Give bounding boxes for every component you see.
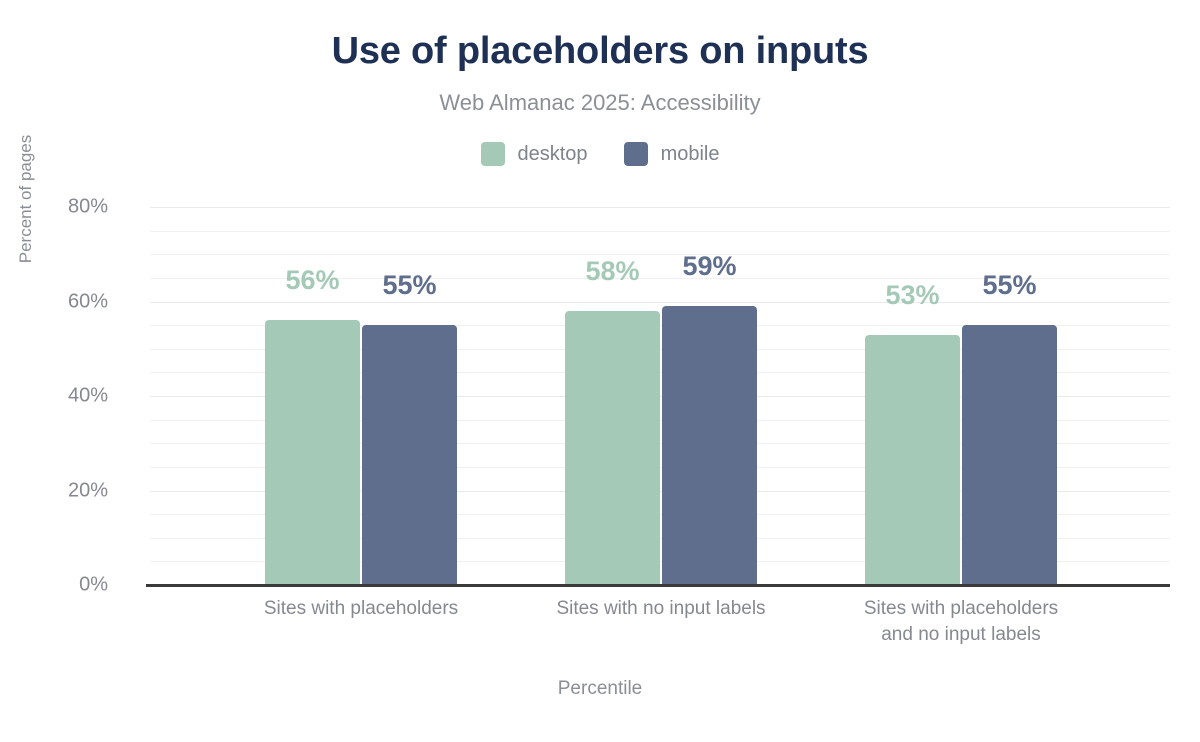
bar-desktop-1[interactable] bbox=[265, 320, 360, 585]
bar-desktop-2[interactable] bbox=[565, 311, 660, 585]
chart-title: Use of placeholders on inputs bbox=[0, 32, 1200, 72]
x-axis-title: Percentile bbox=[0, 678, 1200, 700]
bar-value-mobile-2: 59% bbox=[682, 251, 736, 282]
legend-swatch-desktop bbox=[481, 142, 505, 166]
bar-desktop-3[interactable] bbox=[865, 335, 960, 585]
x-axis-tick-label: Sites with placeholders bbox=[264, 596, 458, 622]
legend-item-mobile[interactable]: mobile bbox=[624, 142, 720, 166]
x-axis-tick-label: Sites with placeholders and no input lab… bbox=[864, 596, 1058, 647]
gridline bbox=[150, 207, 1170, 208]
bar-value-mobile-3: 55% bbox=[982, 270, 1036, 301]
bar-mobile-1[interactable] bbox=[362, 325, 457, 585]
y-axis-tick-label: 60% bbox=[0, 290, 108, 313]
chart-legend: desktop mobile bbox=[0, 142, 1200, 166]
x-axis-tick-label: Sites with no input labels bbox=[556, 596, 765, 622]
legend-label-mobile: mobile bbox=[661, 143, 720, 166]
bar-value-desktop-1: 56% bbox=[285, 265, 339, 296]
bar-value-desktop-3: 53% bbox=[885, 280, 939, 311]
gridline bbox=[150, 302, 1170, 303]
x-axis-baseline bbox=[146, 584, 1170, 587]
legend-swatch-mobile bbox=[624, 142, 648, 166]
bar-value-mobile-1: 55% bbox=[382, 270, 436, 301]
plot-area: 0%20%40%60%80% 56%55%58%59%53%55% bbox=[150, 207, 1170, 585]
chart-subtitle: Web Almanac 2025: Accessibility bbox=[0, 90, 1200, 116]
legend-label-desktop: desktop bbox=[518, 143, 588, 166]
gridline bbox=[150, 254, 1170, 255]
y-axis-tick-label: 40% bbox=[0, 385, 108, 408]
bar-mobile-2[interactable] bbox=[662, 306, 757, 585]
legend-item-desktop[interactable]: desktop bbox=[481, 142, 588, 166]
bar-mobile-3[interactable] bbox=[962, 325, 1057, 585]
y-axis-tick-label: 80% bbox=[0, 196, 108, 219]
bar-chart: Use of placeholders on inputs Web Almana… bbox=[0, 0, 1200, 742]
y-axis-tick-label: 20% bbox=[0, 479, 108, 502]
bar-value-desktop-2: 58% bbox=[585, 256, 639, 287]
y-axis-tick-label: 0% bbox=[0, 574, 108, 597]
gridline bbox=[150, 231, 1170, 232]
